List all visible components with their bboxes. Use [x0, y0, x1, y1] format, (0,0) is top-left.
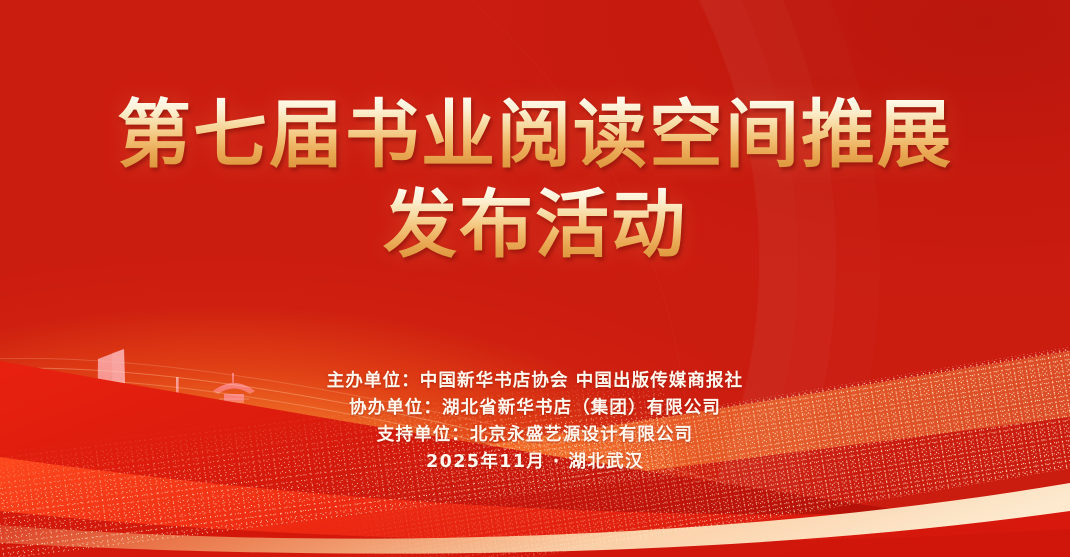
- poster-title: 第七届书业阅读空间推展 发布活动: [0, 96, 1070, 265]
- credits-block: 主办单位：中国新华书店协会 中国出版传媒商报社 协办单位：湖北省新华书店（集团）…: [0, 368, 1070, 476]
- title-line-primary: 第七届书业阅读空间推展: [0, 96, 1070, 174]
- credit-organizer: 主办单位：中国新华书店协会 中国出版传媒商报社: [0, 368, 1070, 395]
- credit-supporter: 支持单位：北京永盛艺源设计有限公司: [0, 422, 1070, 449]
- credit-date-location: 2025年11月 · 湖北武汉: [0, 449, 1070, 476]
- event-poster: 第七届书业阅读空间推展 发布活动 主办单位：中国新华书店协会 中国出版传媒商报社…: [0, 0, 1070, 557]
- credit-co-organizer: 协办单位：湖北省新华书店（集团）有限公司: [0, 395, 1070, 422]
- title-line-secondary: 发布活动: [0, 186, 1070, 264]
